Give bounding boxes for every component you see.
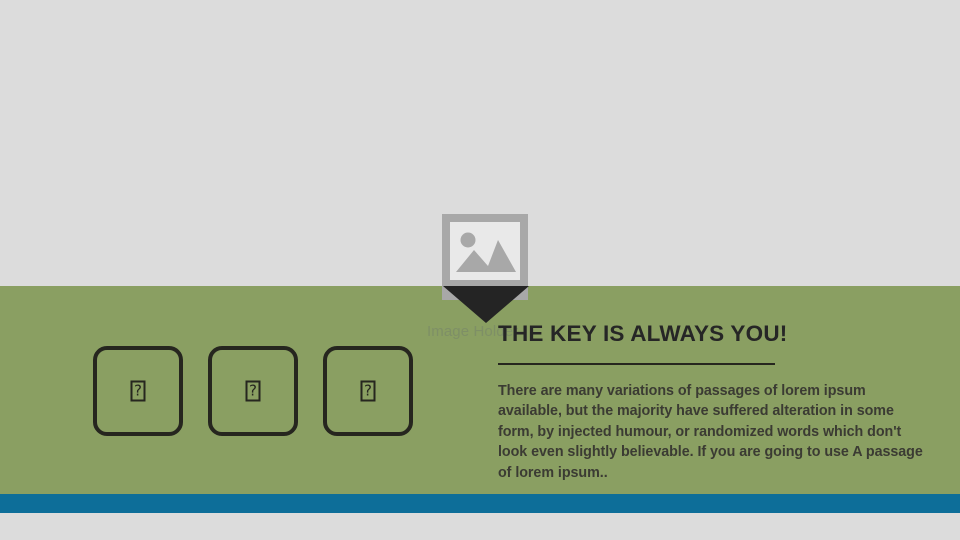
missing-glyph-icon: ? xyxy=(246,381,261,402)
page-title: THE KEY IS ALWAYS YOU! xyxy=(498,322,930,347)
picture-icon xyxy=(450,222,520,280)
icon-box-2[interactable]: ? xyxy=(208,346,298,436)
icon-box-3[interactable]: ? xyxy=(323,346,413,436)
icon-box-1[interactable]: ? xyxy=(93,346,183,436)
accent-bar-blue xyxy=(0,494,960,513)
slide-canvas: Image Holder ? ? ? THE KEY IS ALWAYS YOU… xyxy=(0,0,960,540)
background-band-bottom xyxy=(0,513,960,540)
content-text-block: THE KEY IS ALWAYS YOU! There are many va… xyxy=(498,322,930,484)
pin-triangle-marker xyxy=(443,286,529,323)
missing-glyph-icon: ? xyxy=(131,381,146,402)
missing-glyph-icon: ? xyxy=(361,381,376,402)
title-underline-rule xyxy=(498,363,775,365)
body-paragraph: There are many variations of passages of… xyxy=(498,381,930,484)
